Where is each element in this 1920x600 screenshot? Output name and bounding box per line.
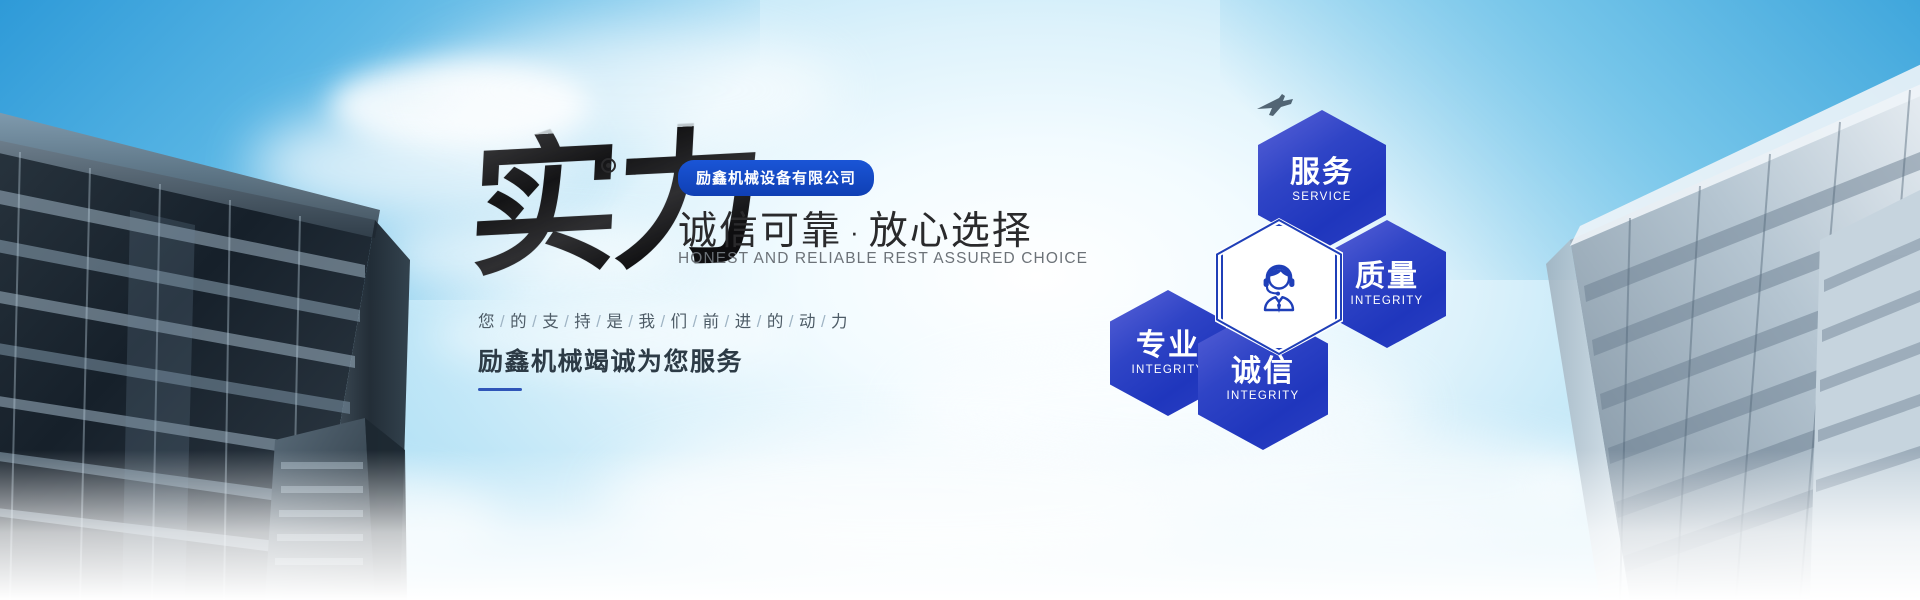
hex-service-label-en: SERVICE xyxy=(1292,191,1351,203)
sub-line-char: 进 xyxy=(735,313,752,331)
sub-line-separator: / xyxy=(816,313,831,331)
sub-line-separator: / xyxy=(688,313,703,331)
sub-line-char: 们 xyxy=(671,313,688,331)
slogan-cn-right: 放心选择 xyxy=(869,210,1033,253)
slogan-cn: 诚信可靠·放心选择 xyxy=(678,200,1033,256)
company-badge: 励鑫机械设备有限公司 xyxy=(678,160,874,196)
building-left-small xyxy=(255,400,415,600)
hex-quality[interactable]: 质量 INTEGRITY xyxy=(1328,220,1446,348)
sub-line-char: 动 xyxy=(799,313,816,331)
sub-line-separator: / xyxy=(720,313,735,331)
sub-line-char: 是 xyxy=(606,313,623,331)
sub-line-separator: / xyxy=(623,313,638,331)
slogan-cn-left: 诚信可靠 xyxy=(678,210,842,253)
hex-service-label-cn: 服务 xyxy=(1290,157,1354,189)
hex-trust-label-en: INTEGRITY xyxy=(1226,390,1299,402)
hex-trust-label-cn: 诚信 xyxy=(1231,356,1295,388)
slogan-separator: · xyxy=(842,217,869,247)
registered-dot-icon xyxy=(601,158,616,173)
sub-line-separator: / xyxy=(591,313,606,331)
copy-block: 实力 励鑫机械设备有限公司 诚信可靠·放心选择 HONEST AND RELIA… xyxy=(470,120,1090,420)
sub-line-char: 我 xyxy=(638,313,655,331)
sub-line-char: 力 xyxy=(831,313,848,331)
hex-professional-label-cn: 专业 xyxy=(1136,330,1200,362)
sub-line: 您/的/支/持/是/我/们/前/进/的/动/力 xyxy=(478,308,848,332)
hex-operator-inner xyxy=(1221,224,1337,350)
sub-main: 励鑫机械竭诚为您服务 xyxy=(478,342,743,378)
hexagon-cluster: 服务 SERVICE 质量 INTEGRITY 专业 INTEGRITY 诚信 … xyxy=(1110,110,1530,510)
sub-line-char: 支 xyxy=(542,313,559,331)
sub-line-char: 的 xyxy=(767,313,784,331)
headset-operator-icon xyxy=(1252,260,1306,314)
sub-line-separator: / xyxy=(559,313,574,331)
sub-line-char: 您 xyxy=(478,313,495,331)
sub-line-separator: / xyxy=(527,313,542,331)
slogan-en: HONEST AND RELIABLE REST ASSURED CHOICE xyxy=(678,250,1088,268)
sub-line-char: 前 xyxy=(703,313,720,331)
sub-line-separator: / xyxy=(495,313,510,331)
sub-line-char: 的 xyxy=(510,313,527,331)
sub-line-separator: / xyxy=(784,313,799,331)
accent-underline xyxy=(478,388,522,391)
hex-quality-label-cn: 质量 xyxy=(1355,261,1419,293)
sub-line-separator: / xyxy=(752,313,767,331)
hero-banner: 实力 励鑫机械设备有限公司 诚信可靠·放心选择 HONEST AND RELIA… xyxy=(0,0,1920,600)
sub-line-separator: / xyxy=(655,313,670,331)
hex-quality-label-en: INTEGRITY xyxy=(1350,295,1423,307)
building-right-small xyxy=(1800,180,1920,600)
hex-professional-label-en: INTEGRITY xyxy=(1131,364,1204,376)
sub-line-char: 持 xyxy=(574,313,591,331)
